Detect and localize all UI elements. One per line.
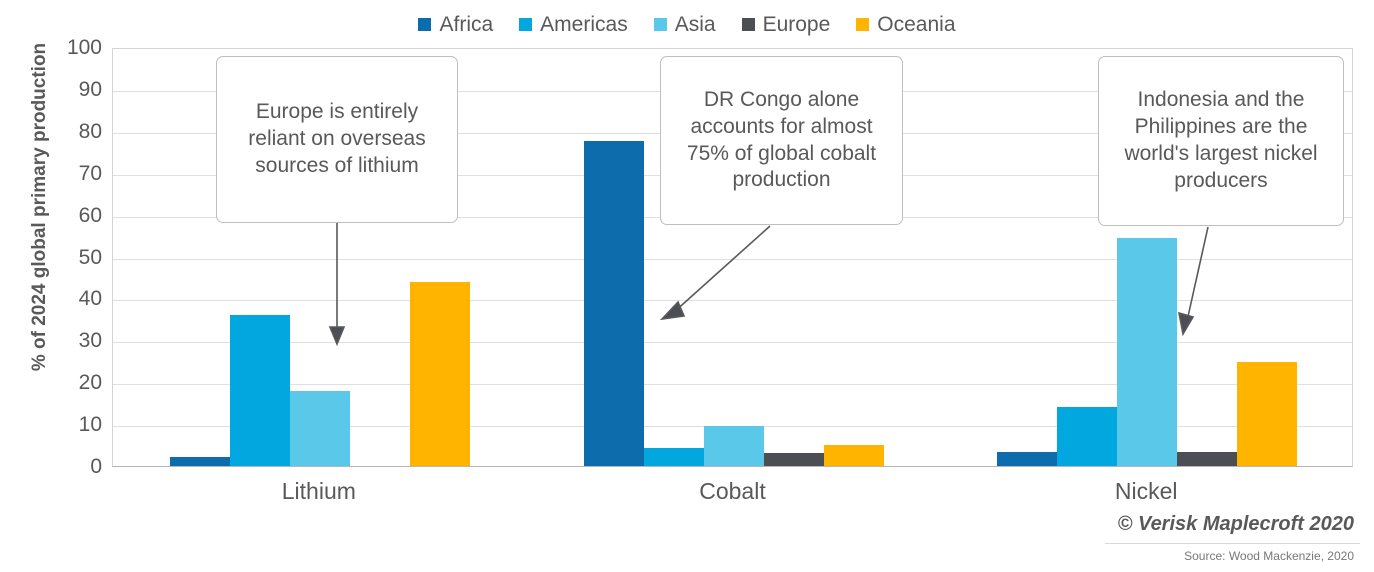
bar-lithium-africa[interactable]	[170, 457, 230, 466]
legend-swatch-americas	[519, 18, 532, 31]
bar-lithium-americas[interactable]	[230, 315, 290, 466]
annotation-text-lithium: Europe is entirely reliant on overseas s…	[231, 99, 443, 180]
bar-nickel-africa[interactable]	[997, 452, 1057, 466]
y-tick-40: 40	[42, 288, 102, 309]
legend-label-africa: Africa	[439, 14, 493, 35]
legend-swatch-africa	[418, 18, 431, 31]
y-tick-20: 20	[42, 372, 102, 393]
bar-nickel-americas[interactable]	[1057, 407, 1117, 466]
bar-lithium-asia[interactable]	[290, 391, 350, 466]
bar-cobalt-americas[interactable]	[644, 448, 704, 466]
y-axis-tick-labels: 1009080706050403020100	[0, 0, 112, 572]
legend-label-asia: Asia	[675, 14, 716, 35]
annotation-callout-cobalt: DR Congo alone accounts for almost 75% o…	[660, 56, 903, 225]
bar-cobalt-asia[interactable]	[704, 426, 764, 466]
legend-label-oceania: Oceania	[877, 14, 955, 35]
legend-swatch-europe	[742, 18, 755, 31]
bar-lithium-oceania[interactable]	[410, 282, 470, 466]
x-label-cobalt: Cobalt	[526, 478, 940, 505]
legend-item-oceania: Oceania	[856, 14, 955, 35]
y-tick-100: 100	[42, 37, 102, 58]
legend-swatch-oceania	[856, 18, 869, 31]
bar-nickel-oceania[interactable]	[1237, 362, 1297, 466]
bar-slot-nickel-africa	[997, 49, 1057, 466]
bar-cobalt-oceania[interactable]	[824, 445, 884, 466]
y-tick-0: 0	[42, 456, 102, 477]
bar-slot-cobalt-africa	[584, 49, 644, 466]
chart-legend: Africa Americas Asia Europe Oceania	[0, 14, 1374, 35]
copyright-text: © Verisk Maplecroft 2020	[1118, 513, 1354, 536]
bar-nickel-europe[interactable]	[1177, 452, 1237, 466]
annotation-text-cobalt: DR Congo alone accounts for almost 75% o…	[675, 87, 888, 195]
x-label-nickel: Nickel	[939, 478, 1353, 505]
legend-swatch-asia	[654, 18, 667, 31]
annotation-text-nickel: Indonesia and the Philippines are the wo…	[1113, 87, 1329, 195]
bar-cobalt-europe[interactable]	[764, 453, 824, 466]
legend-item-americas: Americas	[519, 14, 628, 35]
legend-item-europe: Europe	[742, 14, 831, 35]
y-tick-60: 60	[42, 205, 102, 226]
legend-item-asia: Asia	[654, 14, 716, 35]
y-tick-90: 90	[42, 79, 102, 100]
legend-label-americas: Americas	[540, 14, 628, 35]
x-label-lithium: Lithium	[112, 478, 526, 505]
y-tick-30: 30	[42, 330, 102, 351]
bar-cobalt-africa[interactable]	[584, 141, 644, 466]
annotation-callout-nickel: Indonesia and the Philippines are the wo…	[1098, 56, 1344, 226]
footer-divider	[1105, 543, 1360, 544]
annotation-callout-lithium: Europe is entirely reliant on overseas s…	[216, 56, 458, 223]
legend-item-africa: Africa	[418, 14, 493, 35]
y-tick-70: 70	[42, 163, 102, 184]
y-tick-10: 10	[42, 414, 102, 435]
source-text: Source: Wood Mackenzie, 2020	[1184, 549, 1354, 563]
legend-label-europe: Europe	[763, 14, 831, 35]
y-tick-50: 50	[42, 247, 102, 268]
y-tick-80: 80	[42, 121, 102, 142]
bar-nickel-asia[interactable]	[1117, 238, 1177, 466]
